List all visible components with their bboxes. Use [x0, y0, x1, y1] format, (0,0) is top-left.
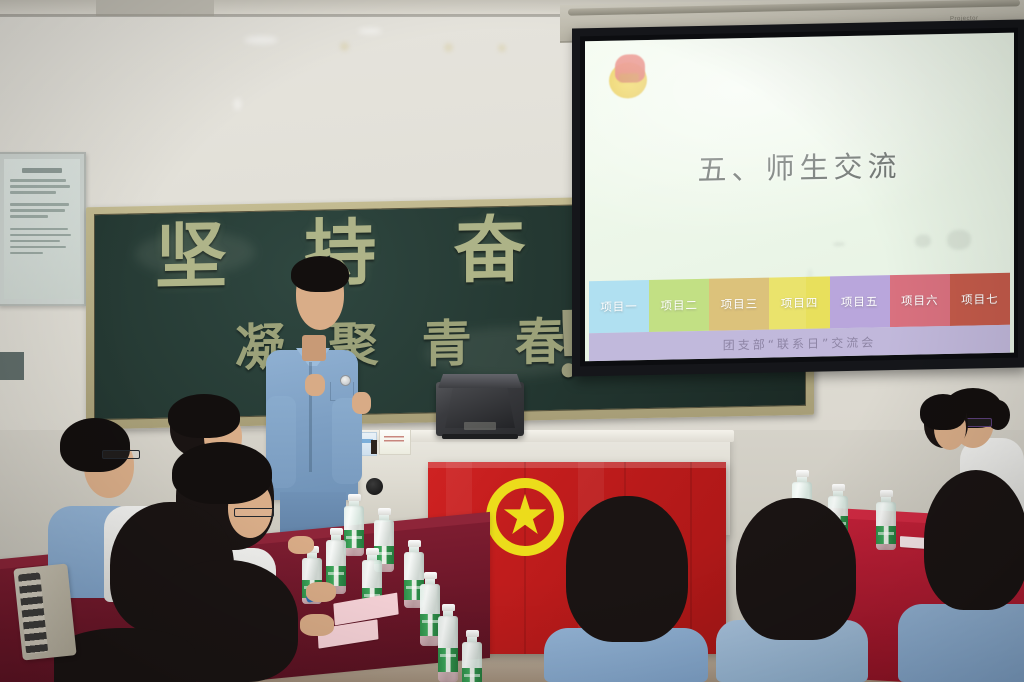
student-hair [172, 442, 272, 504]
presenter-left-hand [305, 374, 325, 396]
student-head [736, 498, 856, 640]
wall-plate [0, 352, 24, 380]
wall-spot [498, 44, 506, 52]
wall-smudge [358, 28, 382, 34]
slide-tab-3-label: 项目三 [721, 296, 759, 313]
poster-title-bar [22, 168, 62, 173]
slide-title: 五、师生交流 [585, 141, 1014, 192]
slide-tab-6-label: 项目六 [901, 292, 939, 309]
student-head [924, 470, 1024, 610]
student-hair [60, 418, 130, 472]
monitor-body [436, 382, 524, 436]
student-hand [306, 582, 336, 602]
presenter-neck [302, 335, 326, 361]
slide-tab-6[interactable]: 项目六 [890, 274, 950, 327]
poster-content: wall-notice-poster [4, 159, 80, 299]
student-shirt [898, 604, 1024, 682]
slide-tab-4-label: 项目四 [781, 295, 819, 312]
projector-screen-bezel: 五、师生交流 项目一 项目二 项目三 项目四 项目五 项目六 项目七 团支部“联… [580, 28, 1018, 367]
student-head [566, 496, 688, 642]
slide-tab-1-label: 项目一 [600, 298, 638, 315]
water-bottle[interactable] [462, 630, 482, 682]
eyeglasses [102, 450, 140, 459]
wall-notice-poster: wall-notice-poster [0, 152, 86, 306]
student-head [54, 628, 196, 682]
wall-spot [444, 43, 453, 52]
slide-tab-2-label: 项目二 [660, 297, 698, 314]
monitor-hood [438, 374, 522, 388]
desk-box-white [379, 429, 411, 455]
presenter-pin-badge [340, 375, 351, 386]
monitor-badge [464, 422, 496, 430]
student-hair [168, 394, 240, 438]
blackboard-sub-char-3: 青 [422, 304, 472, 377]
projector-screen: 五、师生交流 项目一 项目二 项目三 项目四 项目五 项目六 项目七 团支部“联… [572, 19, 1024, 376]
slide-tab-2[interactable]: 项目二 [649, 279, 709, 332]
student-hand [300, 614, 334, 636]
monitor-stand [442, 434, 518, 439]
presenter-right-hand [352, 392, 371, 414]
slide-tab-7[interactable]: 项目七 [950, 273, 1010, 326]
water-bottle[interactable] [876, 490, 896, 550]
wall-smudge [244, 36, 278, 44]
cyl-badge-emblem [607, 54, 651, 99]
podium-speaker-hole [366, 478, 383, 495]
slide-tab-7-label: 项目七 [961, 291, 999, 308]
classroom-photo: wall-notice-poster 坚 持 奋 斗 凝 聚 青 春 ！ [0, 0, 1024, 682]
chair-back-slats [18, 572, 48, 654]
water-bottle[interactable] [420, 572, 440, 646]
water-bottle[interactable] [438, 604, 458, 682]
blackboard-char-1: 坚 [155, 218, 227, 293]
slide-tab-4[interactable]: 项目四 [769, 276, 829, 329]
classroom-chair[interactable] [13, 563, 76, 660]
podium-monitor [436, 374, 524, 438]
blackboard-char-3: 奋 [454, 212, 526, 287]
slide-tab-strip: 项目一 项目二 项目三 项目四 项目五 项目六 项目七 [589, 273, 1010, 333]
eyeglasses [234, 508, 274, 517]
slide-tab-5-label: 项目五 [841, 293, 879, 310]
flag-star-emblem [486, 478, 564, 556]
ceiling-fixture [96, 0, 214, 16]
flag-top-tie [428, 462, 726, 468]
slide-tab-3[interactable]: 项目三 [709, 278, 769, 331]
presenter-hair [291, 256, 349, 292]
slide-tab-1[interactable]: 项目一 [589, 280, 649, 333]
water-bottle[interactable] [344, 494, 364, 556]
student-hair [920, 394, 966, 430]
wall-smudge [234, 98, 241, 110]
wall-spot [340, 42, 349, 51]
desk-small-object [371, 440, 377, 454]
slide-tab-5[interactable]: 项目五 [830, 275, 890, 328]
presentation-slide: 五、师生交流 项目一 项目二 项目三 项目四 项目五 项目六 项目七 团支部“联… [585, 33, 1014, 362]
student-hand [288, 536, 314, 554]
